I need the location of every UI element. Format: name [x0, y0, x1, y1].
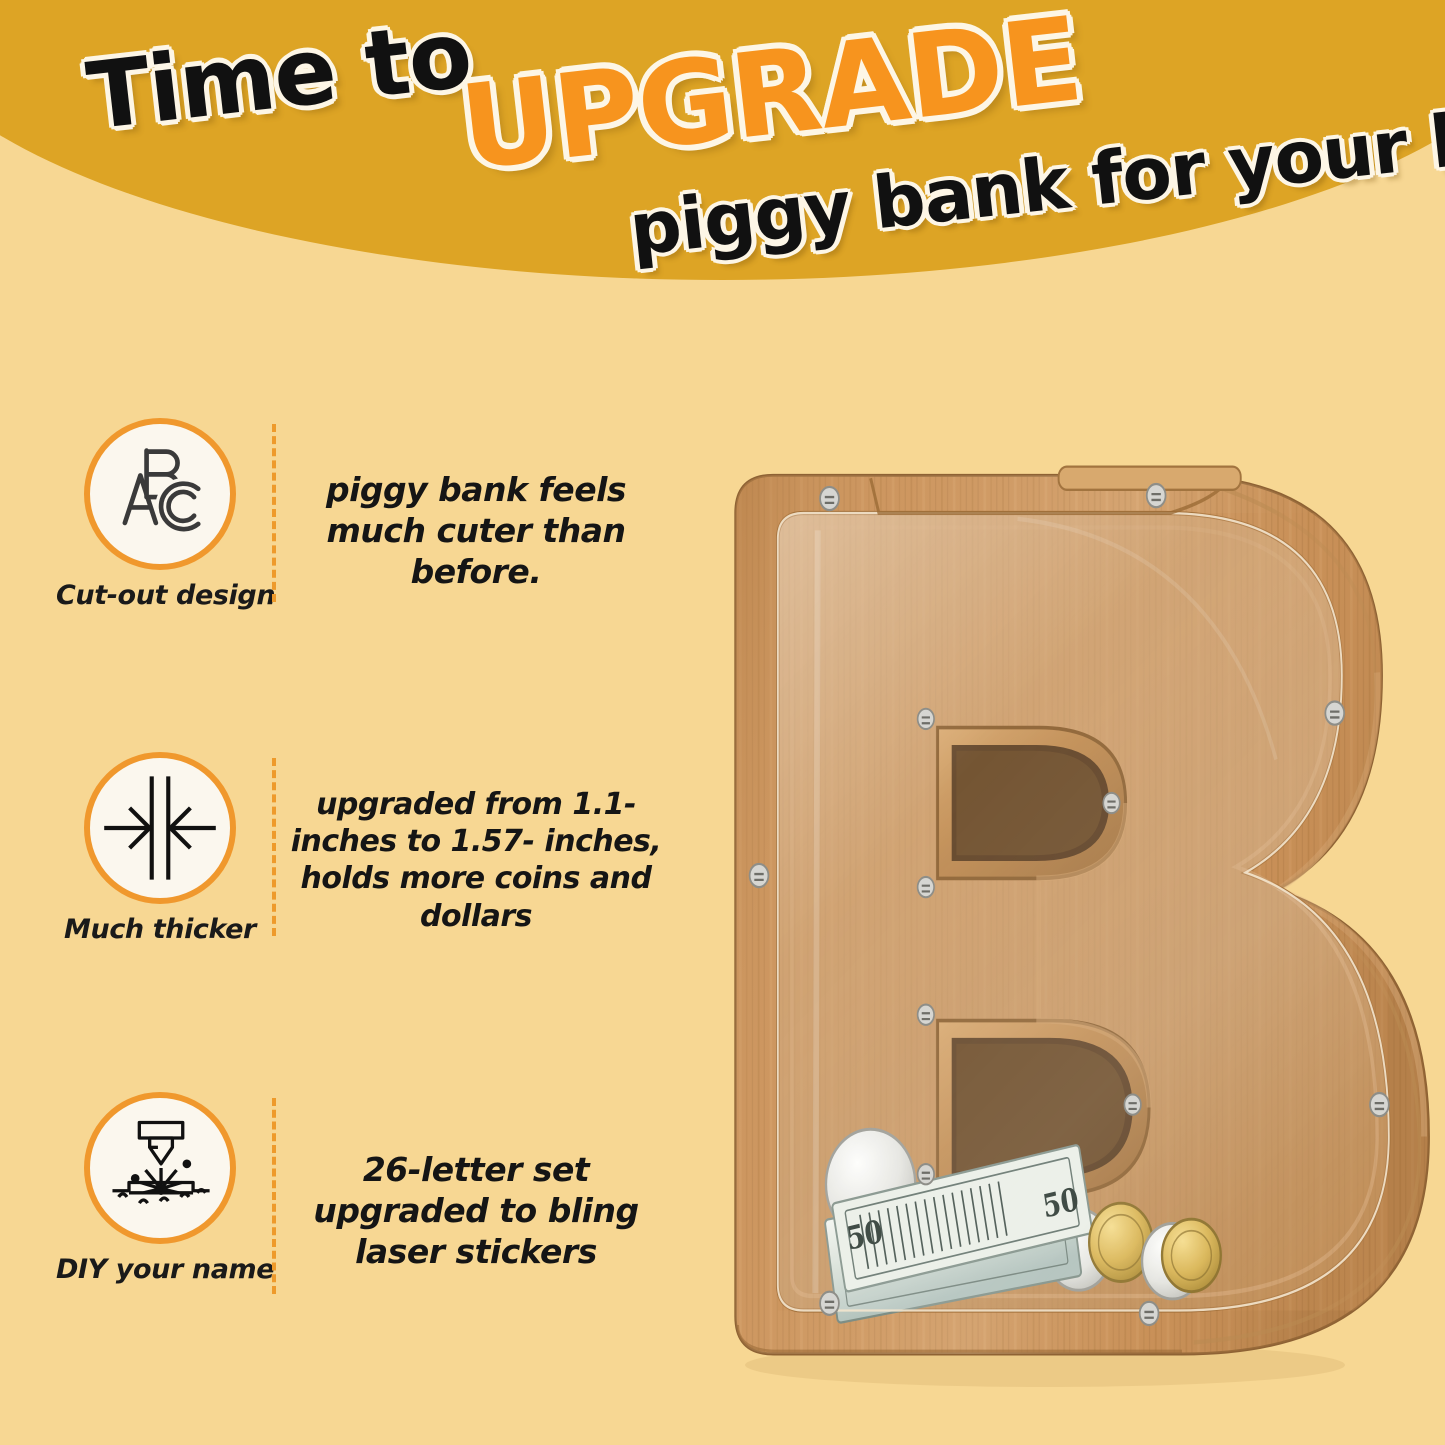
feature-list: Cut-out design piggy bank feels much cut… — [0, 0, 700, 1445]
feature-divider — [272, 424, 276, 602]
feature-caption: DIY your name — [56, 1254, 264, 1285]
feature-caption: Cut-out design — [56, 580, 264, 611]
product-image-letter-b-piggy-bank: 50 50 50 — [655, 435, 1430, 1400]
abc-letters-icon — [84, 418, 236, 570]
feature-caption: Much thicker — [56, 914, 264, 945]
feature-divider — [272, 1098, 276, 1294]
feature-description: upgraded from 1.1-inches to 1.57- inches… — [286, 786, 666, 935]
feature-icon-column: Much thicker — [56, 752, 264, 945]
feature-icon-column: DIY your name — [56, 1092, 264, 1285]
feature-divider — [272, 758, 276, 936]
thickness-arrows-icon — [84, 752, 236, 904]
feature-description: piggy bank feels much cuter than before. — [286, 470, 666, 593]
laser-engraver-icon — [84, 1092, 236, 1244]
feature-icon-column: Cut-out design — [56, 418, 264, 611]
feature-description: 26-letter set upgraded to bling laser st… — [286, 1150, 666, 1273]
